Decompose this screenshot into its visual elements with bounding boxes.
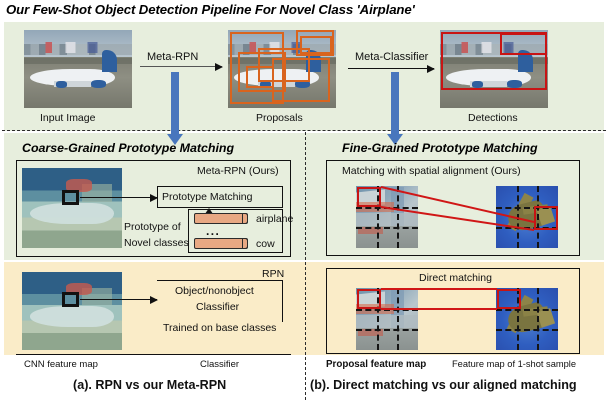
rpn-trained-on-base-classes: Trained on base classes: [163, 322, 276, 334]
input-image-photo: [24, 30, 132, 108]
black-right-arrow-icon: [348, 68, 434, 69]
proposals-label: Proposals: [256, 112, 303, 124]
rpn-classifier-line1: Object/nonobject: [175, 285, 254, 297]
caption-a: (a). RPN vs our Meta-RPN: [73, 378, 226, 392]
coarse-cnn-feature-map: [22, 168, 122, 248]
baseline-anchor-cell-box: [62, 292, 79, 307]
prototype-of-label-line2: Novel classes: [124, 237, 189, 249]
baseline-panel-bottom-rule: [16, 354, 291, 355]
prototype-class-airplane-label: airplane: [256, 213, 293, 225]
prototype-chip-cap: [242, 238, 248, 249]
prototype-chip-cow: [194, 238, 248, 249]
black-right-arrow-icon: [80, 299, 157, 300]
rpn-module-title: RPN: [262, 268, 284, 280]
fine-match-connector-lines: [326, 160, 580, 256]
direct-match-connector-lines: [326, 268, 580, 354]
vertical-divider: [305, 132, 306, 400]
horizontal-divider: [2, 130, 606, 131]
sample-feature-map-footer: Feature map of 1-shot sample: [452, 359, 576, 369]
proposal-feature-map-footer: Proposal feature map: [326, 359, 426, 370]
coarse-anchor-cell-box: [62, 190, 79, 205]
cnn-feature-map-footer: CNN feature map: [24, 359, 98, 370]
blue-down-arrow-icon: [171, 72, 179, 148]
prototype-of-label-line1: Prototype of: [124, 221, 181, 233]
prototype-chip-cap: [242, 213, 248, 224]
rpn-classifier-line2: Classifier: [196, 301, 239, 313]
coarse-section-title: Coarse-Grained Prototype Matching: [22, 141, 234, 155]
black-right-arrow-icon: [140, 66, 222, 67]
proposal-box: [246, 66, 274, 88]
proposal-box: [272, 58, 330, 102]
input-image-label: Input Image: [40, 112, 95, 124]
classifier-footer: Classifier: [200, 359, 239, 370]
coarse-panel-bottom-rule: [16, 256, 291, 257]
prototype-matching-label: Prototype Matching: [162, 191, 252, 203]
baseline-cnn-feature-map: [22, 272, 122, 350]
prototype-class-cow-label: cow: [256, 238, 275, 250]
rpn-module-top-rule: [157, 280, 283, 281]
meta-classifier-arrow-label: Meta-Classifier: [355, 51, 428, 63]
coarse-panel-left-rule: [16, 160, 17, 256]
detections-label: Detections: [468, 112, 518, 124]
page-title: Our Few-Shot Object Detection Pipeline F…: [6, 2, 415, 17]
prototype-chip-airplane: [194, 213, 248, 224]
black-right-arrow-icon: [80, 197, 157, 198]
caption-b: (b). Direct matching vs our aligned matc…: [310, 378, 577, 392]
prototype-ellipsis: ...: [206, 224, 220, 238]
coarse-panel-top-rule: [16, 160, 291, 161]
detection-box: [500, 33, 547, 55]
proposal-box: [300, 36, 332, 54]
rpn-module-right-rule: [282, 280, 283, 322]
figure-root: Our Few-Shot Object Detection Pipeline F…: [0, 0, 608, 402]
coarse-panel-right-rule: [290, 160, 291, 256]
meta-rpn-module-title: Meta-RPN (Ours): [197, 165, 279, 177]
fine-section-title: Fine-Grained Prototype Matching: [342, 141, 538, 155]
blue-down-arrow-icon: [391, 72, 399, 148]
meta-rpn-arrow-label: Meta-RPN: [147, 51, 198, 63]
